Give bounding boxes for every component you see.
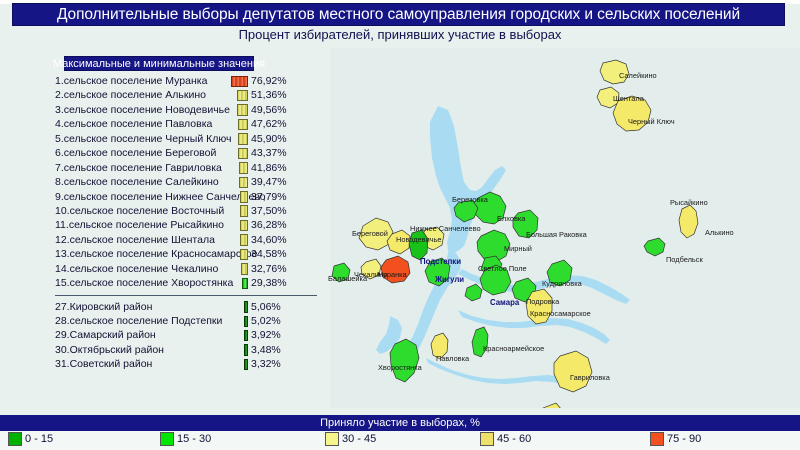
ranking-bar (244, 359, 248, 371)
legend-swatch (650, 432, 664, 446)
ranking-row-value: 5,02% (251, 314, 281, 328)
ranking-bar-fill (238, 148, 248, 160)
map-label: Хворостянка (378, 364, 422, 371)
ranking-panel-header: Максимальные и минимальные значения (64, 56, 254, 71)
map-label: Нижнее Санчелеево (410, 225, 481, 232)
page-title-bar: Дополнительные выборы депутатов местного… (12, 3, 785, 26)
ranking-bar (231, 76, 248, 88)
ranking-bar-fill (238, 119, 248, 131)
legend-title-bar: Приняло участие в выборах, % (0, 415, 800, 431)
page-title: Дополнительные выборы депутатов местного… (57, 6, 740, 24)
ranking-row[interactable]: 6.сельское поселение Береговой43,37% (55, 146, 317, 160)
ranking-row-label: 8.сельское поселение Салейкино (55, 175, 219, 189)
map-label: Самара (490, 299, 519, 307)
ranking-row[interactable]: 10.сельское поселение Восточный37,50% (55, 204, 317, 218)
ranking-row-value: 39,47% (251, 175, 287, 189)
map-label: Подровка (526, 298, 559, 305)
map-label: Салейкино (619, 72, 657, 79)
ranking-row-value: 3,32% (251, 357, 281, 371)
legend-item[interactable]: 15 - 30 (160, 432, 211, 446)
map-label: Павловка (436, 355, 469, 362)
ranking-row[interactable]: 28.сельское поселение Подстепки5,02% (55, 314, 317, 328)
ranking-row-label: 6.сельское поселение Береговой (55, 146, 216, 160)
ranking-row[interactable]: 7.сельское поселение Гавриловка41,86% (55, 161, 317, 175)
legend-label: 75 - 90 (667, 433, 701, 445)
legend-item[interactable]: 30 - 45 (325, 432, 376, 446)
ranking-bar (244, 301, 248, 313)
ranking-row-value: 36,28% (251, 218, 287, 232)
ranking-row[interactable]: 9.сельское поселение Нижнее Санчелеево37… (55, 190, 317, 204)
ranking-bar-fill (239, 162, 248, 174)
ranking-bar-fill (240, 220, 248, 232)
ranking-bar-fill (244, 301, 248, 313)
slide-root: Дополнительные выборы депутатов местного… (0, 0, 800, 450)
choropleth-map[interactable]: СалейкиноШенталаЧерный КлючРысайкиноАльк… (330, 48, 800, 408)
ranking-row-label: 1.сельское поселение Муранка (55, 74, 207, 88)
ranking-bar-fill (244, 330, 248, 342)
map-label: Большая Раковка (526, 231, 587, 238)
ranking-row-label: 15.сельское поселение Хворостянка (55, 276, 233, 290)
ranking-bar (239, 177, 248, 189)
legend-swatch (8, 432, 22, 446)
ranking-bar-fill (240, 205, 248, 217)
map-label: Черный Ключ (628, 118, 675, 125)
map-label: Красносамарское (530, 310, 591, 317)
ranking-row-value: 5,06% (251, 300, 281, 314)
ranking-bar (241, 263, 248, 275)
ranking-row[interactable]: 2.сельское поселение Алькино51,36% (55, 88, 317, 102)
ranking-bar (242, 278, 248, 290)
ranking-bar-fill (238, 133, 248, 145)
ranking-row-value: 43,37% (251, 146, 287, 160)
ranking-bar-fill (240, 191, 248, 203)
legend-items: 0 - 1515 - 3030 - 4545 - 6075 - 90 (0, 432, 800, 450)
ranking-panel: Максимальные и минимальные значения 1.се… (55, 56, 317, 378)
ranking-bar-fill (244, 316, 248, 328)
ranking-row-value: 76,92% (251, 74, 287, 88)
ranking-bar-fill (240, 234, 248, 246)
ranking-bar-fill (242, 278, 248, 290)
legend-swatch (325, 432, 339, 446)
ranking-row-label: 30.Октябрьский район (55, 343, 164, 357)
legend-item[interactable]: 45 - 60 (480, 432, 531, 446)
ranking-bar-fill (237, 90, 248, 102)
ranking-row[interactable]: 31.Советский район3,32% (55, 357, 317, 371)
ranking-bar (237, 104, 248, 116)
ranking-row-value: 34,58% (251, 247, 287, 261)
ranking-row-label: 14.сельское поселение Чекалино (55, 262, 218, 276)
ranking-row-value: 51,36% (251, 88, 287, 102)
map-label: Муранка (377, 271, 407, 278)
ranking-row-label: 2.сельское поселение Алькино (55, 88, 206, 102)
map-label: Кудряновка (542, 280, 582, 287)
ranking-rows: 1.сельское поселение Муранка76,92%2.сель… (55, 74, 317, 372)
map-label: Мирный (504, 245, 532, 252)
page-subtitle: Процент избирателей, принявших участие в… (0, 27, 800, 47)
map-label: Жигули (435, 276, 464, 284)
ranking-bar (244, 344, 248, 356)
legend-label: 15 - 30 (177, 433, 211, 445)
map-label: Елховка (497, 215, 525, 222)
ranking-divider (55, 291, 317, 300)
ranking-bar-fill (241, 263, 248, 275)
map-label: Новодевичье (396, 236, 442, 243)
ranking-bar (240, 249, 248, 261)
ranking-bar (240, 191, 248, 203)
ranking-bar (240, 205, 248, 217)
ranking-row-value: 3,48% (251, 343, 281, 357)
ranking-row-label: 9.сельское поселение Нижнее Санчелеево (55, 190, 266, 204)
ranking-row[interactable]: 4.сельское поселение Павловка47,62% (55, 117, 317, 131)
ranking-bar (240, 234, 248, 246)
ranking-bar-fill (231, 76, 248, 88)
ranking-row-label: 27.Кировский район (55, 300, 152, 314)
ranking-row[interactable]: 13.сельское поселение Красносамарское34,… (55, 247, 317, 261)
legend-title: Приняло участие в выборах, % (320, 417, 480, 429)
ranking-row[interactable]: 1.сельское поселение Муранка76,92% (55, 74, 317, 88)
ranking-bar (238, 119, 248, 131)
ranking-bar-fill (237, 104, 248, 116)
ranking-bar (237, 90, 248, 102)
ranking-row-value: 45,90% (251, 132, 287, 146)
ranking-row-label: 11.сельское поселение Рысайкино (55, 218, 224, 232)
legend-swatch (160, 432, 174, 446)
legend-swatch (480, 432, 494, 446)
ranking-bar-fill (240, 249, 248, 261)
map-label: Гавриловка (570, 374, 610, 381)
ranking-row-label: 4.сельское поселение Павловка (55, 117, 212, 131)
ranking-row-value: 49,56% (251, 103, 287, 117)
ranking-row-label: 10.сельское поселение Восточный (55, 204, 224, 218)
legend-item[interactable]: 0 - 15 (8, 432, 53, 446)
ranking-bar (244, 330, 248, 342)
ranking-row-label: 28.сельское поселение Подстепки (55, 314, 222, 328)
ranking-row[interactable]: 8.сельское поселение Салейкино39,47% (55, 175, 317, 189)
ranking-bar (239, 162, 248, 174)
legend-label: 30 - 45 (342, 433, 376, 445)
ranking-row[interactable]: 12.сельское поселение Шентала34,60% (55, 233, 317, 247)
ranking-row-value: 34,60% (251, 233, 287, 247)
ranking-row[interactable]: 5.сельское поселение Черный Ключ45,90% (55, 132, 317, 146)
ranking-bar (238, 148, 248, 160)
ranking-row[interactable]: 15.сельское поселение Хворостянка29,38% (55, 276, 317, 290)
map-label: Береговой (352, 230, 388, 237)
ranking-bar (244, 316, 248, 328)
ranking-row-label: 13.сельское поселение Красносамарское (55, 247, 257, 261)
legend-item[interactable]: 75 - 90 (650, 432, 701, 446)
ranking-row[interactable]: 27.Кировский район5,06% (55, 300, 317, 314)
legend-label: 0 - 15 (25, 433, 53, 445)
ranking-bar (240, 220, 248, 232)
map-label: Подбельск (666, 256, 703, 263)
ranking-row-label: 3.сельское поселение Новодевичье (55, 103, 230, 117)
map-label: Подстепки (420, 258, 461, 266)
map-label: Алькино (705, 229, 734, 236)
map-label: Красноармейское (483, 345, 544, 352)
ranking-row-label: 31.Советский район (55, 357, 152, 371)
ranking-row-value: 37,50% (251, 204, 287, 218)
ranking-row-value: 29,38% (251, 276, 287, 290)
ranking-row[interactable]: 14.сельское поселение Чекалино32,76% (55, 262, 317, 276)
ranking-bar-fill (244, 359, 248, 371)
ranking-row-label: 5.сельское поселение Черный Ключ (55, 132, 231, 146)
ranking-row-value: 37,79% (251, 190, 287, 204)
map-label: Березовка (452, 196, 488, 203)
ranking-row-label: 7.сельское поселение Гавриловка (55, 161, 222, 175)
ranking-row-value: 47,62% (251, 117, 287, 131)
ranking-bar (238, 133, 248, 145)
ranking-row[interactable]: 3.сельское поселение Новодевичье49,56% (55, 103, 317, 117)
ranking-row[interactable]: 29.Самарский район3,92% (55, 328, 317, 342)
legend-label: 45 - 60 (497, 433, 531, 445)
map-label: Рысайкино (670, 199, 708, 206)
ranking-row-value: 3,92% (251, 328, 281, 342)
ranking-bar-fill (244, 344, 248, 356)
region-gavrilovka[interactable] (554, 351, 592, 392)
ranking-row-label: 29.Самарский район (55, 328, 156, 342)
ranking-row[interactable]: 30.Октябрьский район3,48% (55, 343, 317, 357)
ranking-row-value: 41,86% (251, 161, 287, 175)
ranking-row[interactable]: 11.сельское поселение Рысайкино36,28% (55, 218, 317, 232)
map-label: Шентала (613, 95, 644, 102)
ranking-row-value: 32,76% (251, 262, 287, 276)
ranking-bar-fill (239, 177, 248, 189)
ranking-row-label: 12.сельское поселение Шентала (55, 233, 215, 247)
map-label: Светлое Поле (478, 265, 527, 272)
